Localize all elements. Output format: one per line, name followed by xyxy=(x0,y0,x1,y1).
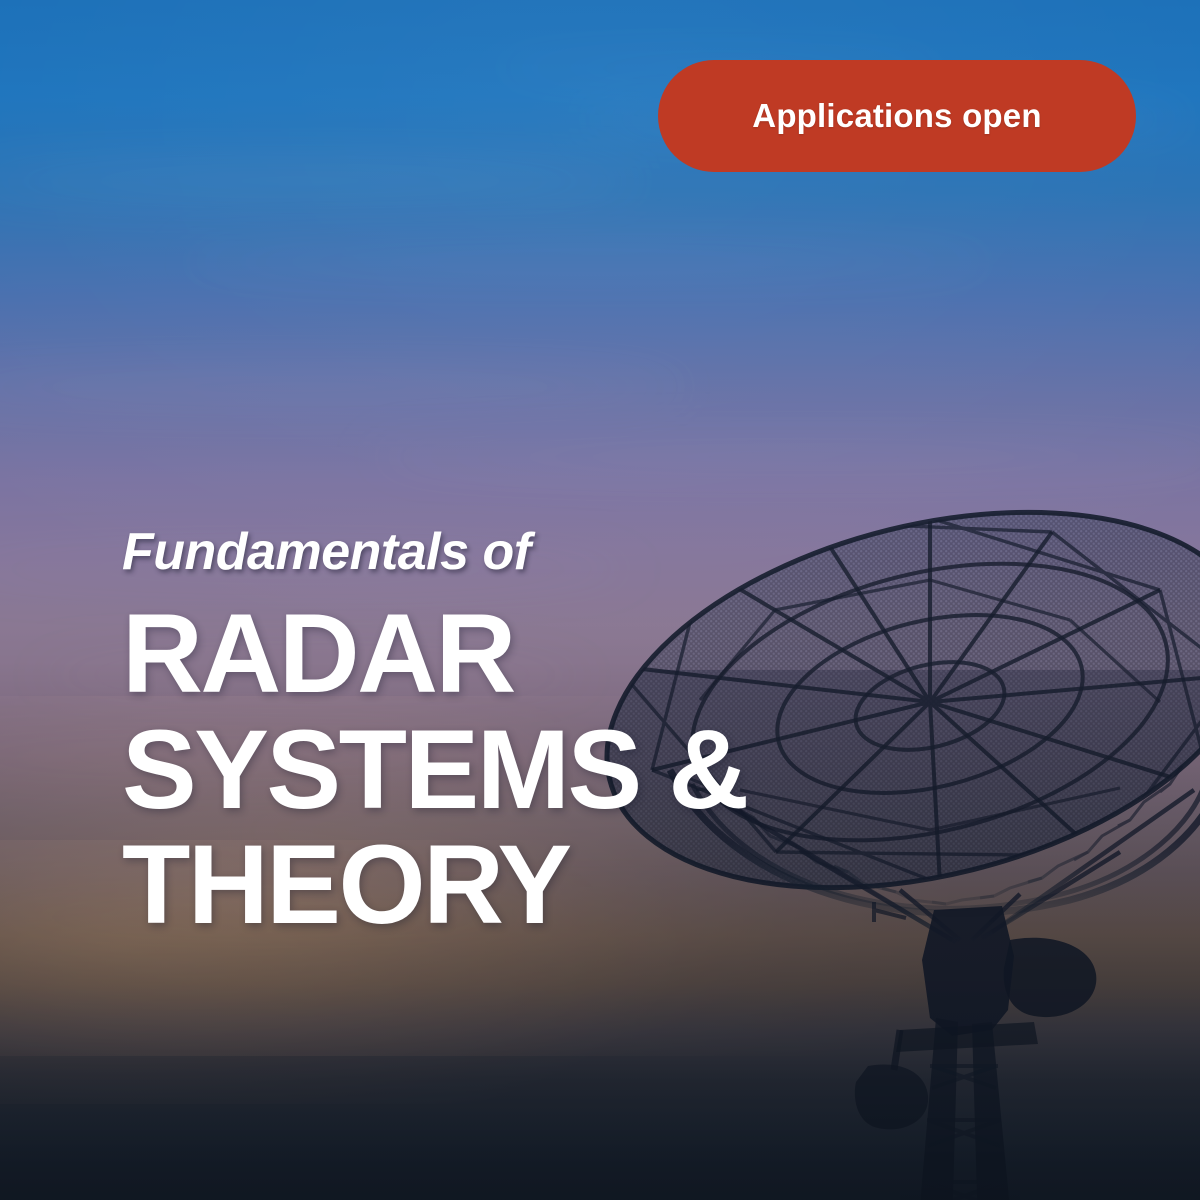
eyebrow-text: Fundamentals of xyxy=(122,524,942,580)
title-block: Fundamentals of RADAR SYSTEMS & THEORY xyxy=(122,524,942,942)
page-title: RADAR SYSTEMS & THEORY xyxy=(122,596,942,942)
applications-open-badge[interactable]: Applications open xyxy=(658,60,1136,172)
headline-line-2: SYSTEMS & xyxy=(122,712,942,827)
badge-label: Applications open xyxy=(752,97,1041,135)
headline-line-1: RADAR xyxy=(122,596,942,711)
promo-card: Applications open Fundamentals of RADAR … xyxy=(0,0,1200,1200)
headline-line-3: THEORY xyxy=(122,827,942,942)
